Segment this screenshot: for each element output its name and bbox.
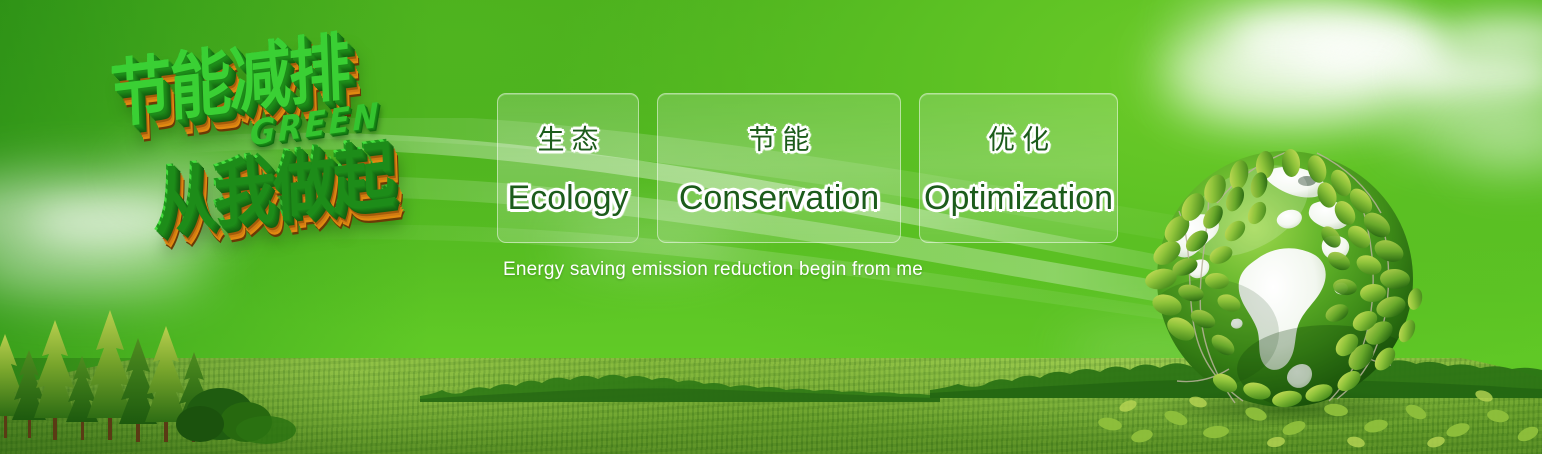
green-environment-banner: 节能减排 GREEN 从我做起 生态 Ecology 节能 Conservati… — [0, 0, 1542, 454]
logo-3d-slogan: 节能减排 GREEN 从我做起 — [100, 42, 490, 267]
tagline-text: Energy saving emission reduction begin f… — [503, 259, 923, 281]
feature-card-title-en: Conservation — [679, 179, 879, 218]
feature-card-conservation[interactable]: 节能 Conservation — [657, 93, 901, 243]
feature-card-title-zh: 生态 — [531, 118, 606, 157]
leaf-covered-earth-globe — [1139, 133, 1431, 425]
cloud-icon — [1175, 62, 1405, 122]
grass-field-left-shadow — [0, 358, 360, 454]
cloud-icon — [1180, 0, 1380, 50]
feature-card-ecology[interactable]: 生态 Ecology — [497, 93, 639, 243]
feature-card-title-zh: 优化 — [981, 118, 1056, 157]
feature-card-optimization[interactable]: 优化 Optimization — [919, 93, 1118, 243]
feature-card-title-en: Optimization — [924, 179, 1113, 218]
feature-card-title-en: Ecology — [508, 179, 629, 218]
feature-card-title-zh: 节能 — [742, 118, 817, 157]
